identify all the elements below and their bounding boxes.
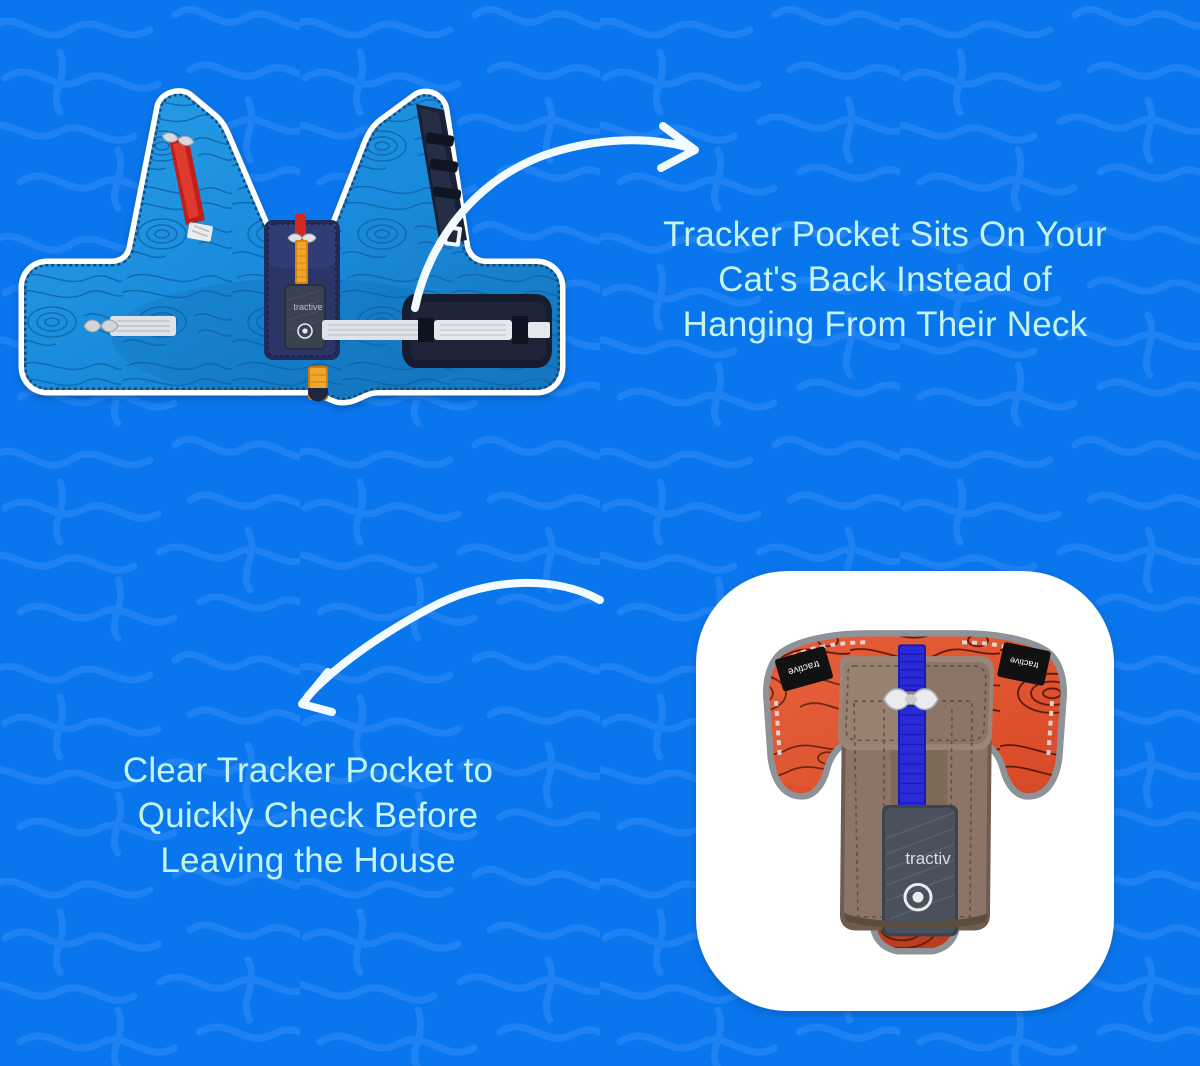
orange-tracker-pocket: tractiv <box>838 644 994 936</box>
pocket-orange-webbing <box>295 240 308 284</box>
callout-text-bottom: Clear Tracker Pocket to Quickly Check Be… <box>48 748 568 883</box>
callout-text-top: Tracker Pocket Sits On Your Cat's Back I… <box>600 212 1170 347</box>
orange-tracker-brand-text: tractiv <box>905 849 951 868</box>
infographic-canvas: tractive <box>0 0 1200 1066</box>
tracker-brand-text: tractive <box>293 302 322 312</box>
orange-harness-photo-card: tractive tractive <box>690 565 1120 1017</box>
tracker-device-window: tractive <box>284 284 326 350</box>
pocket-blue-webbing <box>898 644 926 815</box>
orange-tracker-device: tractiv <box>882 805 958 936</box>
arrow-to-bottom-callout <box>270 578 630 718</box>
strap-center-bottom-tab <box>308 366 328 402</box>
